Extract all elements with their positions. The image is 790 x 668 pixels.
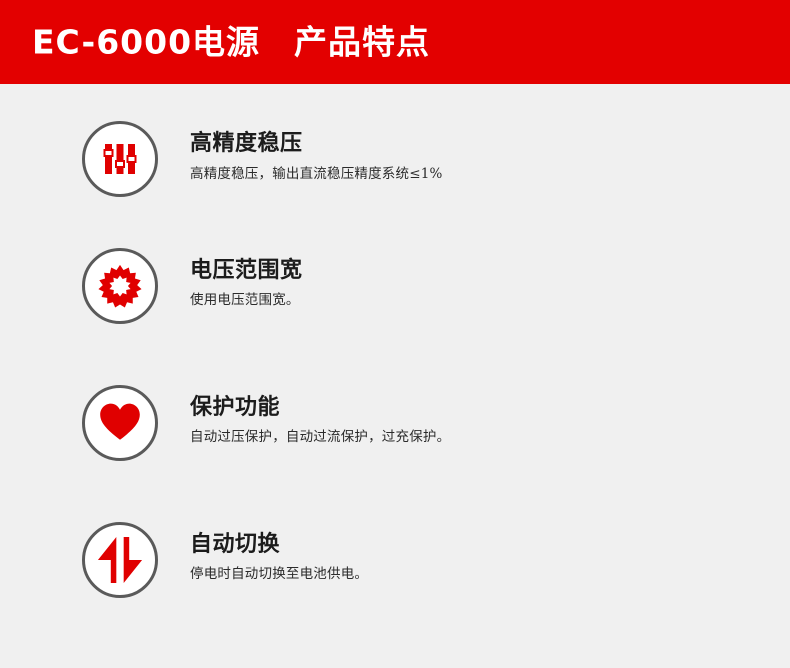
feature-desc-3: 自动过压保护，自动过流保护，过充保护。: [190, 429, 450, 447]
switch-arrows-icon: [97, 536, 143, 584]
feature-title-2: 电压范围宽: [190, 257, 303, 285]
feature-icon-circle-2: [82, 248, 158, 324]
feature-list: 高精度稳压 高精度稳压，输出直流稳压精度系统≤1% 电压范围宽 使用电压范围宽。: [0, 84, 790, 628]
sliders-icon: [99, 138, 141, 180]
feature-desc-2: 使用电压范围宽。: [190, 292, 303, 310]
feature-item-1: 高精度稳压 高精度稳压，输出直流稳压精度系统≤1%: [0, 84, 790, 217]
feature-item-4: 自动切换 停电时自动切换至电池供电。: [0, 491, 790, 628]
feature-desc-1: 高精度稳压，输出直流稳压精度系统≤1%: [190, 166, 443, 184]
feature-text-3: 保护功能 自动过压保护，自动过流保护，过充保护。: [190, 394, 450, 451]
page-header-banner: EC-6000电源 产品特点: [0, 0, 790, 84]
heart-icon: [98, 401, 142, 445]
feature-text-2: 电压范围宽 使用电压范围宽。: [190, 257, 303, 314]
feature-text-1: 高精度稳压 高精度稳压，输出直流稳压精度系统≤1%: [190, 130, 443, 187]
feature-title-4: 自动切换: [190, 531, 368, 559]
feature-icon-circle-4: [82, 522, 158, 598]
page-title: EC-6000电源 产品特点: [32, 26, 430, 59]
feature-item-2: 电压范围宽 使用电压范围宽。: [0, 217, 790, 354]
feature-desc-4: 停电时自动切换至电池供电。: [190, 566, 368, 584]
feature-item-3: 保护功能 自动过压保护，自动过流保护，过充保护。: [0, 354, 790, 491]
feature-icon-circle-1: [82, 121, 158, 197]
feature-icon-circle-3: [82, 385, 158, 461]
feature-title-3: 保护功能: [190, 394, 450, 422]
feature-text-4: 自动切换 停电时自动切换至电池供电。: [190, 531, 368, 588]
feature-title-1: 高精度稳压: [190, 130, 443, 158]
starburst-icon: [98, 264, 142, 308]
